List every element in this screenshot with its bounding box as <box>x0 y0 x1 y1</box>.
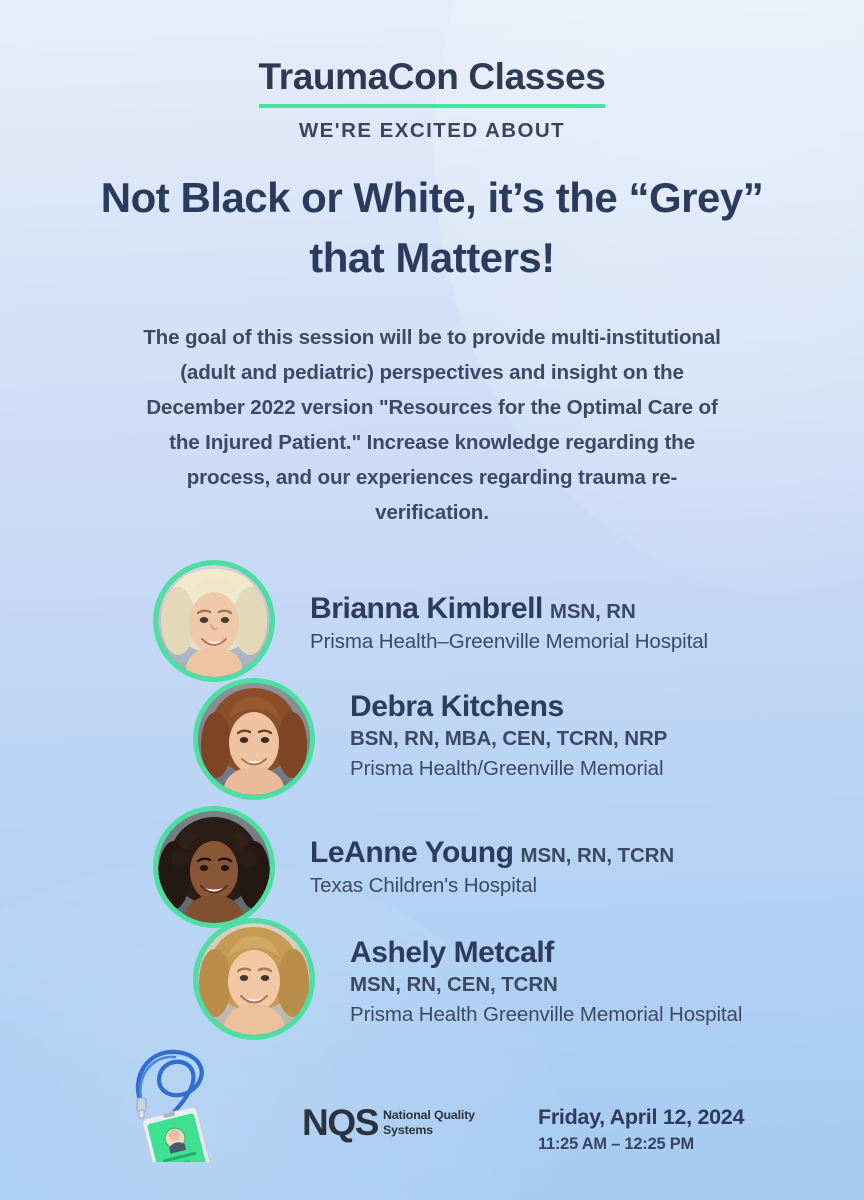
speaker-organization: Texas Children's Hospital <box>310 871 674 901</box>
session-date: Friday, April 12, 2024 <box>538 1104 768 1131</box>
speaker-name: Brianna Kimbrell <box>310 592 543 625</box>
speaker-info: Ashely Metcalf MSN, RN, CEN, TCRN Prisma… <box>350 936 742 1030</box>
speaker-name: Ashely Metcalf <box>350 936 554 969</box>
speaker-name: Debra Kitchens <box>350 690 564 723</box>
eyebrow-title: TraumaCon Classes <box>259 58 606 108</box>
lanyard-badge-icon <box>118 1042 318 1162</box>
eyebrow-subtitle: WE'RE EXCITED ABOUT <box>0 119 864 143</box>
portrait-ashely-metcalf <box>198 923 310 1035</box>
speaker-organization: Prisma Health Greenville Memorial Hospit… <box>350 1000 742 1030</box>
avatar <box>153 560 275 682</box>
speaker-info: LeAnne YoungMSN, RN, TCRN Texas Children… <box>310 836 674 900</box>
speaker-name-line: Ashely Metcalf <box>350 936 742 970</box>
speaker-name-line: Debra Kitchens <box>350 690 667 724</box>
avatar <box>153 806 275 928</box>
speaker-organization: Prisma Health–Greenville Memorial Hospit… <box>310 627 708 657</box>
page-title: Not Black or White, it’s the “Grey” that… <box>92 168 772 287</box>
speaker-info: Debra Kitchens BSN, RN, MBA, CEN, TCRN, … <box>350 690 667 784</box>
speaker-credentials: MSN, RN, TCRN <box>521 844 675 867</box>
session-description: The goal of this session will be to prov… <box>132 320 732 530</box>
speaker-info: Brianna KimbrellMSN, RN Prisma Health–Gr… <box>310 592 708 656</box>
speaker-credentials: MSN, RN <box>550 600 636 623</box>
speaker-name-line: Brianna KimbrellMSN, RN <box>310 592 708 626</box>
speaker-credentials: MSN, RN, CEN, TCRN <box>350 970 742 1000</box>
speaker-list: Brianna KimbrellMSN, RN Prisma Health–Gr… <box>0 560 864 1040</box>
session-datetime: Friday, April 12, 2024 11:25 AM – 12:25 … <box>538 1104 768 1155</box>
speaker-credentials: BSN, RN, MBA, CEN, TCRN, NRP <box>350 724 667 754</box>
session-time: 11:25 AM – 12:25 PM <box>538 1134 768 1155</box>
poster-canvas: TraumaCon Classes WE'RE EXCITED ABOUT No… <box>0 0 864 1200</box>
portrait-debra-kitchens <box>198 683 310 795</box>
speaker-name-line: LeAnne YoungMSN, RN, TCRN <box>310 836 674 870</box>
avatar <box>193 918 315 1040</box>
portrait-leanne-young <box>158 811 270 923</box>
brand-logo: NQS National Quality Systems <box>118 1042 408 1162</box>
portrait-brianna-kimbrell <box>158 565 270 677</box>
logo-full-name: National Quality Systems <box>383 1108 493 1138</box>
avatar <box>193 678 315 800</box>
logo-abbreviation: NQS <box>302 1104 378 1141</box>
header-block: TraumaCon Classes WE'RE EXCITED ABOUT <box>0 58 864 143</box>
speaker-organization: Prisma Health/Greenville Memorial <box>350 754 667 784</box>
speaker-name: LeAnne Young <box>310 836 514 869</box>
